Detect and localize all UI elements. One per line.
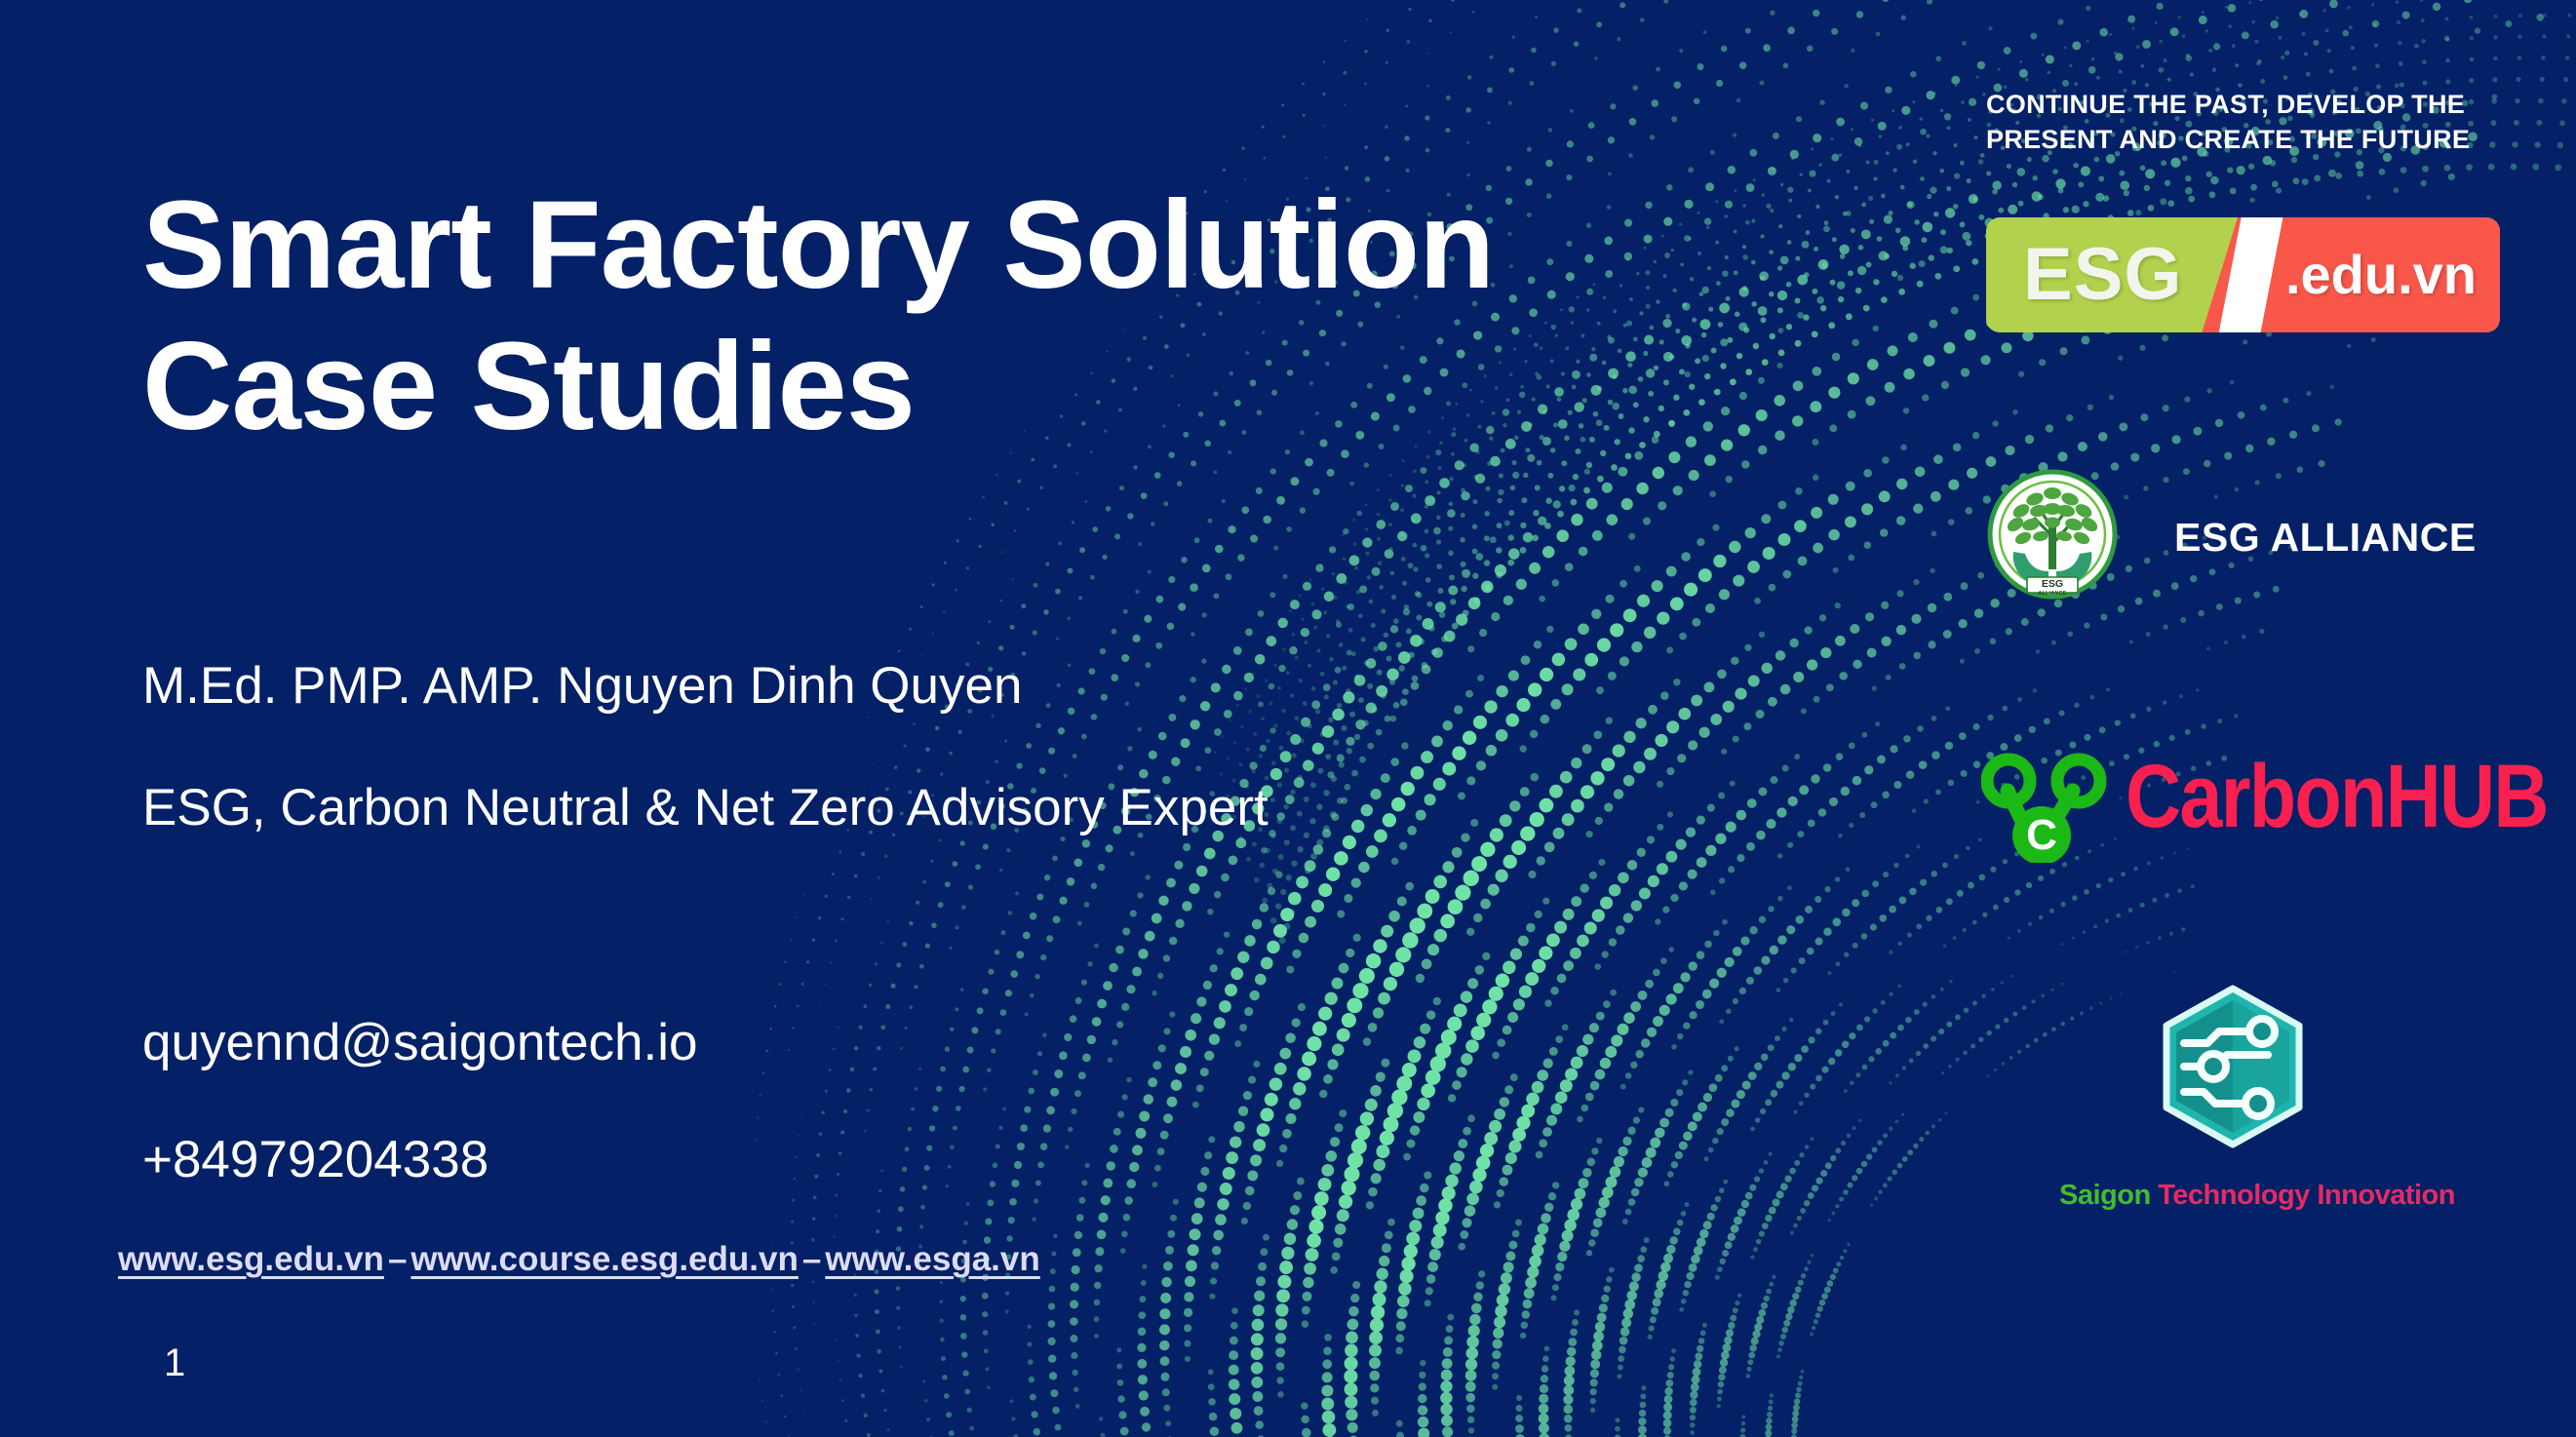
title-content-column: Smart Factory Solution Case Studies M.Ed…	[142, 0, 1780, 1437]
saigon-tech-caption: Saigon Technology Innovation	[2059, 1180, 2449, 1212]
presenter-role: ESG, Carbon Neutral & Net Zero Advisory …	[142, 777, 1268, 839]
brand-tagline: CONTINUE THE PAST, DEVELOP THE PRESENT A…	[1986, 88, 2532, 157]
co2-molecule-icon: C	[1981, 746, 2137, 863]
presenter-name: M.Ed. PMP. AMP. Nguyen Dinh Quyen	[142, 655, 1022, 718]
contact-phone: +84979204338	[142, 1129, 488, 1191]
link-separator-2: –	[799, 1240, 825, 1278]
link-separator-1: –	[384, 1240, 410, 1278]
link-esga-vn[interactable]: www.esga.vn	[825, 1240, 1039, 1278]
esg-edu-vn-logo: ESG .edu.vn	[1986, 217, 2500, 332]
website-links: www.esg.edu.vn–www.course.esg.edu.vn–www…	[118, 1240, 1040, 1279]
saigon-tech-caption-part2: Technology Innovation	[2158, 1180, 2455, 1211]
esg-alliance-logo: ESG ALLIANCE ESG ALLIANCE	[1986, 468, 2571, 614]
page-number: 1	[164, 1341, 185, 1385]
esg-alliance-label: ESG ALLIANCE	[2174, 515, 2477, 561]
esg-logo-right-word: .edu.vn	[2285, 248, 2477, 302]
link-esg-edu-vn[interactable]: www.esg.edu.vn	[118, 1240, 384, 1278]
esg-logo-left-word: ESG	[2023, 238, 2183, 312]
page-title: Smart Factory Solution Case Studies	[142, 175, 1741, 457]
svg-text:C: C	[2026, 811, 2057, 859]
link-course-esg-edu-vn[interactable]: www.course.esg.edu.vn	[410, 1240, 798, 1278]
presentation-slide: Smart Factory Solution Case Studies M.Ed…	[0, 0, 2576, 1437]
carbonhub-wordmark: CarbonHUB	[2126, 748, 2548, 846]
hexagon-circuit-icon	[2159, 985, 2307, 1148]
saigon-tech-caption-part1: Saigon	[2059, 1180, 2151, 1211]
saigon-tech-logo: Saigon Technology Innovation	[2059, 985, 2527, 1228]
contact-email: quyennd@saigontech.io	[142, 1012, 698, 1074]
svg-text:ESG: ESG	[2042, 578, 2063, 590]
carbonhub-logo: C CarbonHUB	[1981, 746, 2566, 863]
brand-column: CONTINUE THE PAST, DEVELOP THE PRESENT A…	[1970, 0, 2576, 1437]
svg-text:ALLIANCE: ALLIANCE	[2038, 591, 2066, 597]
tree-in-hands-circle-icon: ESG ALLIANCE	[1986, 468, 2119, 601]
